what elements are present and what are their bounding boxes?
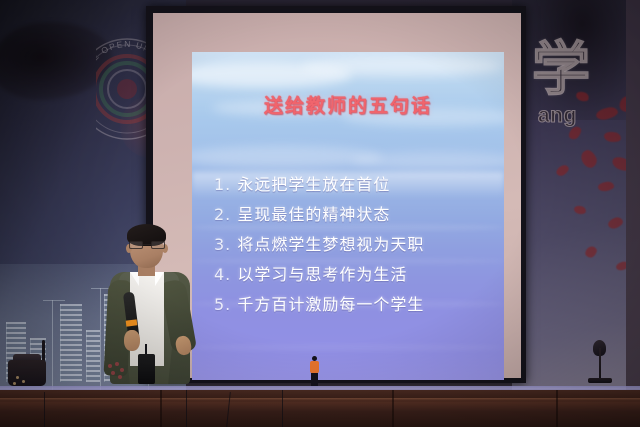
lecture-hall-photo: THE OPEN UNIVERSITY 学 ang: [0, 0, 640, 427]
slide-bullet-list: 1. 永远把学生放在首位 2. 呈现最佳的精神状态 3. 将点燃学生梦想视为天职…: [214, 170, 486, 320]
projection-screen: 送给教师的五句话 1. 永远把学生放在首位 2. 呈现最佳的精神状态 3. 将点…: [146, 6, 526, 383]
stage-lantern-prop: [8, 352, 46, 386]
slide-line-4: 4. 以学习与思考作为生活: [214, 260, 486, 290]
slide-line-4-number: 4.: [214, 265, 231, 284]
banner-cloud-graphic: [0, 22, 112, 100]
wireless-belt-pack: [138, 354, 155, 384]
stage-cable-1: [186, 390, 187, 427]
slide-line-5-number: 5.: [214, 295, 231, 314]
slide-line-3-number: 3.: [214, 235, 231, 254]
slide-title: 送给教师的五句话: [192, 91, 504, 118]
slide-line-2-number: 2.: [214, 205, 231, 224]
projection-screen-surface: 送给教师的五句话 1. 永远把学生放在首位 2. 呈现最佳的精神状态 3. 将点…: [153, 13, 521, 378]
slide-line-4-text: 以学习与思考作为生活: [237, 265, 407, 284]
stage-cable-4: [44, 392, 45, 427]
presenter-collar-right: [155, 272, 164, 286]
slide-line-3-text: 将点燃学生梦想视为天职: [237, 235, 424, 254]
presentation-slide: 送给教师的五句话 1. 永远把学生放在首位 2. 呈现最佳的精神状态 3. 将点…: [192, 52, 504, 380]
presenter-person: [104, 224, 196, 384]
slide-line-1-text: 永远把学生放在首位: [237, 175, 390, 194]
podium-molding: [0, 398, 640, 401]
slide-line-5-text: 千方百计激励每一个学生: [237, 295, 424, 314]
banner-character-xue: 学: [532, 40, 590, 98]
table-microphone-base: [588, 378, 612, 383]
slide-line-2-text: 呈现最佳的精神状态: [237, 205, 390, 224]
slide-line-5: 5. 千方百计激励每一个学生: [214, 290, 486, 320]
stage-cable-3: [282, 390, 283, 427]
presenter-glasses: [129, 241, 165, 249]
slide-line-1: 1. 永远把学生放在首位: [214, 170, 486, 200]
table-microphone-stand: [599, 348, 601, 380]
presenter-hand-left: [124, 330, 140, 351]
right-backdrop-banner: 学 ang: [512, 0, 640, 392]
stage-blossom-decoration: [106, 362, 126, 380]
slide-line-2: 2. 呈现最佳的精神状态: [214, 200, 486, 230]
far-right-wall: [626, 0, 640, 392]
slide-line-3: 3. 将点燃学生梦想视为天职: [214, 230, 486, 260]
stage-podium: [0, 390, 640, 427]
slide-line-1-number: 1.: [214, 175, 231, 194]
audience-person-silhouette: [309, 356, 320, 386]
banner-pinyin-text: ang: [538, 104, 577, 128]
